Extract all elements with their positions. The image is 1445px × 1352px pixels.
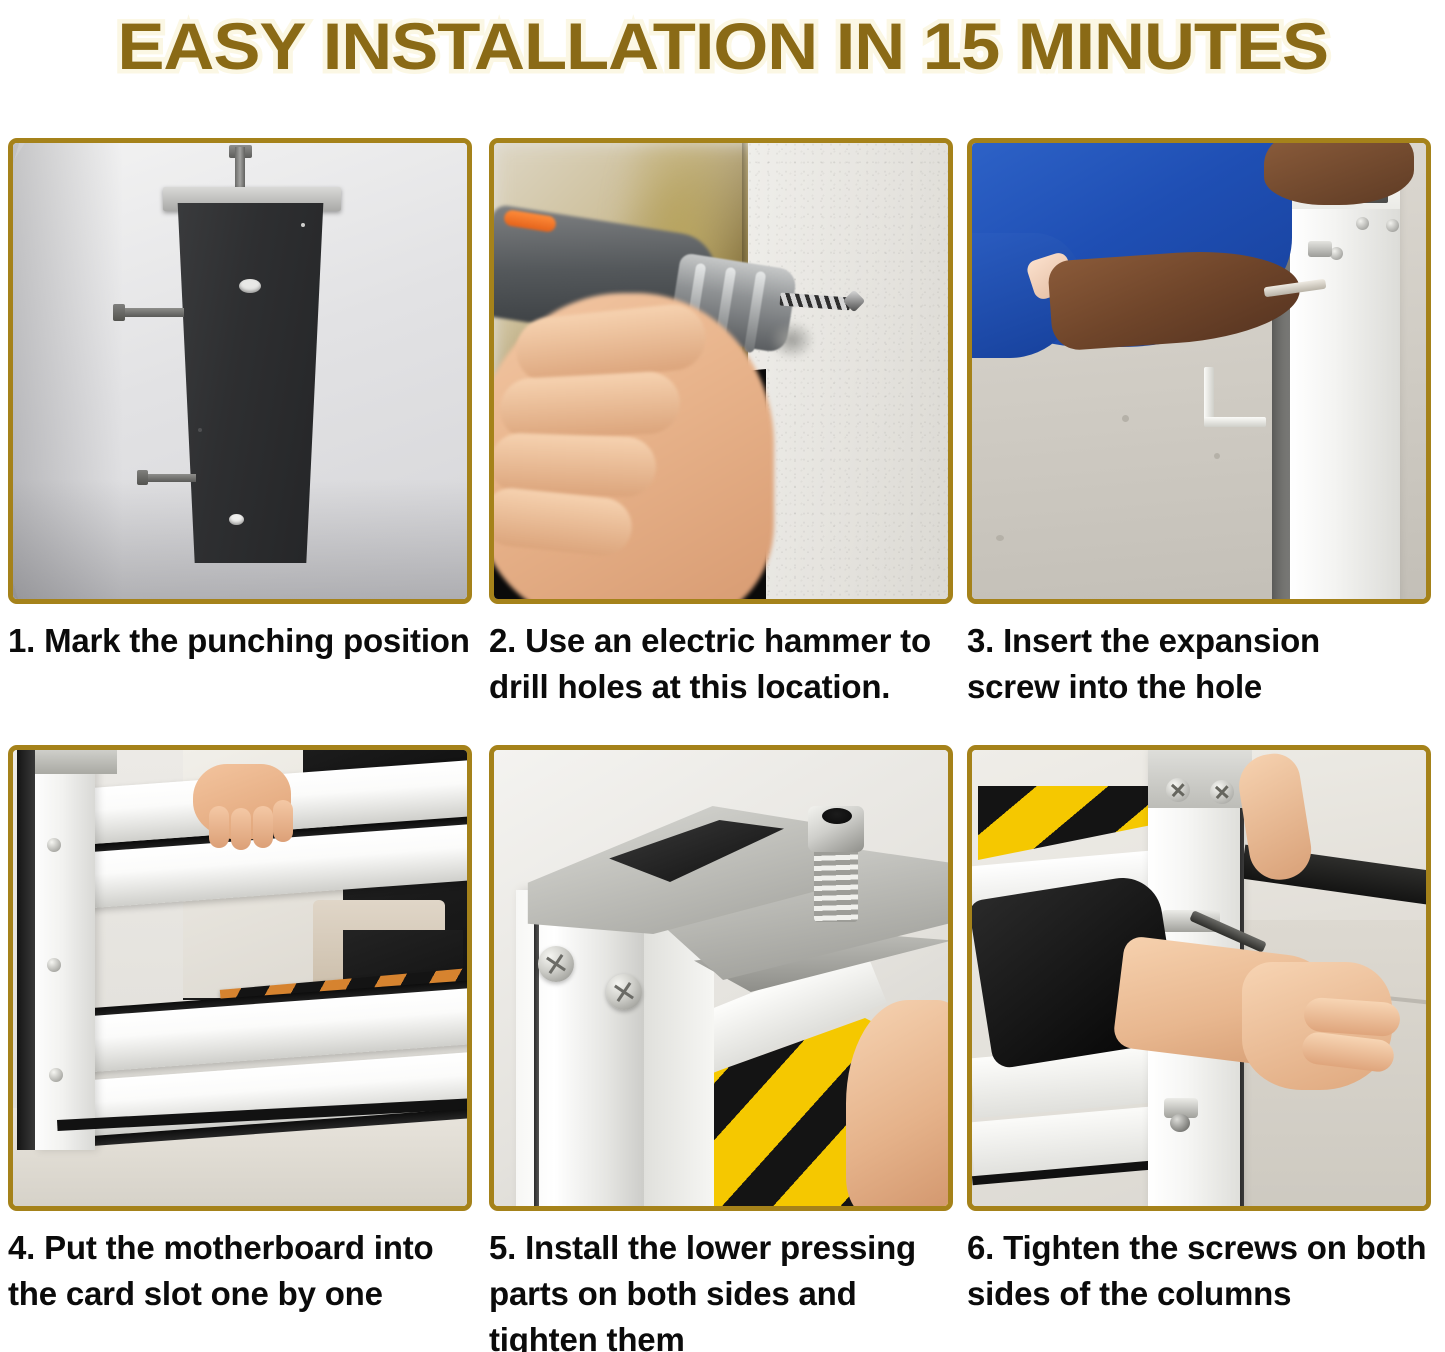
photo-mark-punching-position [13, 143, 467, 599]
finger [209, 806, 229, 848]
page-title-bar: EASY INSTALLATION IN 15 MINUTES [0, 0, 1445, 92]
socket-bolt-thread [814, 846, 858, 922]
column-screw [1386, 219, 1399, 232]
column-screw [49, 1068, 63, 1082]
template-hole-upper [239, 279, 261, 293]
phillips-screw-icon [1210, 780, 1234, 804]
column-seam [534, 890, 539, 1206]
expansion-screw [1308, 241, 1332, 257]
page-title: EASY INSTALLATION IN 15 MINUTES [117, 10, 1328, 82]
steps-grid: 1. Mark the punching position [8, 138, 1437, 1344]
white-column [35, 750, 95, 1150]
step-photo-frame-2 [489, 138, 953, 604]
finger [273, 800, 293, 842]
finger [231, 808, 251, 850]
step-caption-2: 2. Use an electric hammer to drill holes… [489, 618, 959, 710]
step-photo-frame-3 [967, 138, 1431, 604]
step-photo-frame-1 [8, 138, 472, 604]
white-column [1290, 153, 1400, 599]
column-screw [1356, 217, 1369, 230]
template-pin-lower [140, 474, 196, 482]
template-pin-upper [116, 308, 184, 317]
finger [1303, 997, 1401, 1038]
template-pin-upper-head [113, 304, 125, 321]
socket-bolt-hex-hole [822, 808, 852, 824]
column-screw [47, 958, 61, 972]
speck [301, 223, 305, 227]
floor-speck [996, 535, 1004, 541]
phillips-screw-icon [1166, 778, 1190, 802]
step-caption-6: 6. Tighten the screws on both sides of t… [967, 1225, 1437, 1317]
floor-speck [1214, 453, 1220, 459]
phillips-screw-icon [538, 946, 574, 982]
template-hole-lower [229, 514, 244, 525]
step-caption-4: 4. Put the motherboard into the card slo… [8, 1225, 478, 1317]
speck [198, 428, 202, 432]
template-pin-lower-head [137, 470, 148, 485]
finger [253, 806, 273, 848]
column-dark-edge [17, 750, 35, 1150]
step-card-2: 2. Use an electric hammer to drill holes… [489, 138, 953, 710]
drill-dust [770, 321, 814, 359]
photo-tighten-column-screws [972, 750, 1426, 1206]
phillips-screw-icon [606, 974, 642, 1010]
step-card-6: 6. Tighten the screws on both sides of t… [967, 745, 1431, 1317]
column-bolt-lower-head [1170, 1114, 1190, 1132]
step-card-4: 4. Put the motherboard into the card slo… [8, 745, 472, 1317]
photo-put-motherboard-in-slot [13, 750, 467, 1206]
step-caption-3: 3. Insert the expansion screw into the h… [967, 618, 1437, 710]
template-plate [173, 203, 328, 563]
step-card-5: 5. Install the lower pressing parts on b… [489, 745, 953, 1352]
step-photo-frame-4 [8, 745, 472, 1211]
step-caption-1: 1. Mark the punching position [8, 618, 478, 664]
step-photo-frame-5 [489, 745, 953, 1211]
photo-drill-holes [494, 143, 948, 599]
step-caption-5: 5. Install the lower pressing parts on b… [489, 1225, 959, 1352]
column-cap [35, 750, 117, 774]
allen-key-arm [1204, 417, 1266, 427]
column-cap [1148, 750, 1252, 808]
installation-guide-page: EASY INSTALLATION IN 15 MINUTES [0, 0, 1445, 1352]
textured-wall [748, 143, 948, 599]
finger [499, 370, 682, 441]
floor-speck [1122, 415, 1129, 422]
photo-insert-expansion-screw [972, 143, 1426, 599]
step-card-3: 3. Insert the expansion screw into the h… [967, 138, 1431, 710]
column-screw [47, 838, 61, 852]
step-card-1: 1. Mark the punching position [8, 138, 472, 664]
step-photo-frame-6 [967, 745, 1431, 1211]
photo-install-lower-pressing-parts [494, 750, 948, 1206]
